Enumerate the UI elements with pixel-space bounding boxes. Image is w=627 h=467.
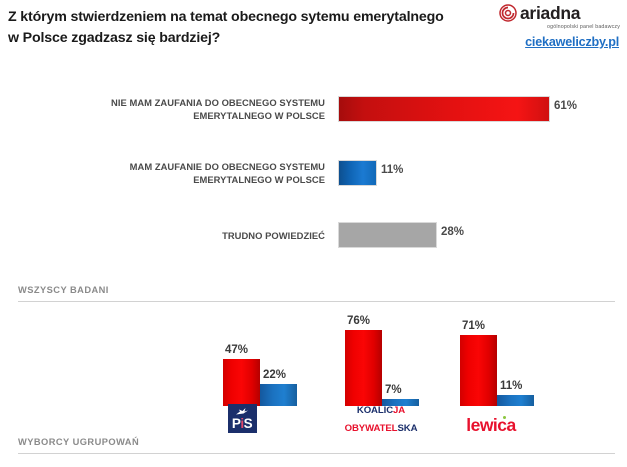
party-value-ko-trust: 7% <box>385 384 402 396</box>
bar-value-trust: 11% <box>381 164 403 176</box>
bar-row-trust: MAM ZAUFANIE DO OBECNEGO SYSTEMU EMERYTA… <box>0 160 627 194</box>
party-value-ko-no-trust: 76% <box>347 315 370 327</box>
party-bar-pis-no-trust[interactable] <box>223 359 260 406</box>
party-bar-pis-trust[interactable] <box>260 384 297 406</box>
bar-row-hard-to-say: TRUDNO POWIEDZIEĆ 28% <box>0 222 627 256</box>
ariadna-logo[interactable]: ariadna <box>499 3 621 23</box>
section-label-party-voters: WYBORCY UGRUPOWAŃ <box>18 437 139 447</box>
party-value-pis-no-trust: 47% <box>225 344 248 356</box>
overall-bar-chart: NIE MAM ZAUFANIA DO OBECNEGO SYSTEMU EME… <box>0 84 627 269</box>
party-logo-pis[interactable]: PiS <box>199 404 285 438</box>
party-group-lewica: 71% 11% lewica <box>455 310 555 440</box>
question-line-2: w Polsce zgadzasz się bardziej? <box>8 28 498 49</box>
party-group-koalicja-obywatelska: 76% 7% KOALICJA OBYWATELSKA <box>340 310 440 440</box>
bar-label-trust: MAM ZAUFANIE DO OBECNEGO SYSTEMU EMERYTA… <box>30 160 325 187</box>
bar-trust[interactable] <box>338 160 377 186</box>
section-divider-top <box>18 301 615 302</box>
party-logo-ko[interactable]: KOALICJA OBYWATELSKA <box>331 400 431 436</box>
ariadna-tagline: ogólnopolski panel badawczy <box>499 24 621 30</box>
party-logo-lewica[interactable]: lewica <box>441 417 541 436</box>
party-value-lewica-no-trust: 71% <box>462 320 485 332</box>
party-bars-pis: 47% 22% <box>218 310 304 406</box>
section-divider-bottom <box>18 453 615 454</box>
question-line-1: Z którym stwierdzeniem na temat obecnego… <box>8 9 444 25</box>
ariadna-wordmark: ariadna <box>520 4 580 22</box>
bar-label-hard-to-say: TRUDNO POWIEDZIEĆ <box>30 229 325 242</box>
party-value-lewica-trust: 11% <box>500 380 522 392</box>
lewica-wordmark: lewica <box>466 417 516 435</box>
party-value-pis-trust: 22% <box>263 369 286 381</box>
party-bar-ko-no-trust[interactable] <box>345 330 382 406</box>
pis-badge-icon: PiS <box>228 404 257 433</box>
header: Z którym stwierdzeniem na temat obecnego… <box>0 0 627 62</box>
bar-label-no-trust: NIE MAM ZAUFANIA DO OBECNEGO SYSTEMU EME… <box>30 96 325 123</box>
bar-hard-to-say[interactable] <box>338 222 437 248</box>
bar-value-hard-to-say: 28% <box>441 226 464 238</box>
ko-wordmark: KOALICJA OBYWATELSKA <box>345 405 418 434</box>
ariadna-spiral-icon <box>499 4 517 22</box>
party-bar-lewica-no-trust[interactable] <box>460 335 497 406</box>
party-bar-lewica-trust[interactable] <box>497 395 534 406</box>
party-bars-lewica: 71% 11% <box>455 310 555 406</box>
party-bar-chart: 47% 22% PiS 76% 7% KOALICJA OBYWATELSKA <box>0 310 627 440</box>
section-label-all-respondents: WSZYSCY BADANI <box>18 285 109 295</box>
brand-logo-block[interactable]: ariadna ogólnopolski panel badawczy ciek… <box>499 3 621 49</box>
party-group-pis: 47% 22% PiS <box>218 310 304 440</box>
bar-value-no-trust: 61% <box>554 100 577 112</box>
page-title: Z którym stwierdzeniem na temat obecnego… <box>8 7 498 48</box>
bar-row-no-trust: NIE MAM ZAUFANIA DO OBECNEGO SYSTEMU EME… <box>0 96 627 130</box>
ciekaweliczby-link[interactable]: ciekaweliczby.pl <box>499 35 621 49</box>
pis-wordmark: PiS <box>228 417 257 431</box>
party-bars-ko: 76% 7% <box>340 310 440 406</box>
bar-no-trust[interactable] <box>338 96 550 122</box>
